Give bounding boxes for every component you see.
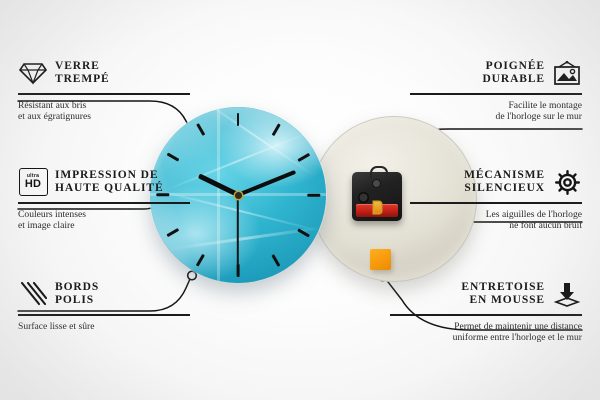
arrow-down-layers-icon bbox=[552, 279, 582, 309]
feature-bords-polis[interactable]: BORDSPOLIS Surface lisse et sûre bbox=[18, 277, 190, 332]
hour-marker bbox=[237, 264, 240, 277]
feature-divider bbox=[410, 93, 582, 95]
feature-description: Couleurs intenseset image claire bbox=[18, 209, 190, 232]
feature-divider bbox=[390, 314, 582, 316]
battery bbox=[356, 204, 398, 217]
hour-marker bbox=[237, 113, 240, 126]
feature-header: MÉCANISMESILENCIEUX bbox=[410, 165, 582, 199]
feature-title: ENTRETOISEEN MOUSSE bbox=[461, 281, 545, 308]
feature-description: Facilite le montagede l'horloge sur le m… bbox=[410, 100, 582, 123]
second-hand bbox=[237, 195, 239, 265]
picture-frame-hanger-icon bbox=[552, 58, 582, 88]
feature-impression-haute-qualite[interactable]: ultra HD IMPRESSION DEHAUTE QUALITÉ Coul… bbox=[18, 165, 190, 232]
diagonal-lines-icon bbox=[18, 279, 48, 309]
gear-icon bbox=[552, 167, 582, 197]
feature-title: POIGNÉEDURABLE bbox=[482, 60, 545, 87]
feature-description: Les aiguilles de l'horlogene font aucun … bbox=[410, 209, 582, 232]
battery-cap bbox=[374, 202, 381, 213]
infographic-canvas: VERRETREMPÉ Résistant aux briset aux égr… bbox=[0, 0, 600, 400]
feature-title: IMPRESSION DEHAUTE QUALITÉ bbox=[55, 169, 164, 196]
hour-marker bbox=[307, 194, 320, 197]
feature-header: VERRETREMPÉ bbox=[18, 56, 190, 90]
foam-spacer bbox=[370, 249, 391, 270]
feature-divider bbox=[18, 202, 190, 204]
hanger-hook-icon bbox=[370, 166, 388, 178]
feature-verre-trempe[interactable]: VERRETREMPÉ Résistant aux briset aux égr… bbox=[18, 56, 190, 123]
feature-divider bbox=[18, 314, 190, 316]
feature-header: ultra HD IMPRESSION DEHAUTE QUALITÉ bbox=[18, 165, 190, 199]
ultra-hd-icon: ultra HD bbox=[18, 167, 48, 197]
feature-description: Surface lisse et sûre bbox=[18, 321, 190, 333]
mechanism-shaft bbox=[372, 179, 381, 188]
feature-divider bbox=[410, 202, 582, 204]
feature-title: BORDSPOLIS bbox=[55, 281, 99, 308]
feature-entretoise-en-mousse[interactable]: ENTRETOISEEN MOUSSE Permet de maintenir … bbox=[390, 277, 582, 344]
feature-mecanisme-silencieux[interactable]: MÉCANISMESILENCIEUX Les aiguilles de l'h… bbox=[410, 165, 582, 232]
feature-header: ENTRETOISEEN MOUSSE bbox=[390, 277, 582, 311]
diamond-icon bbox=[18, 58, 48, 88]
feature-description: Résistant aux briset aux égratignures bbox=[18, 100, 190, 123]
feature-poignee-durable[interactable]: POIGNÉEDURABLE Facilite le montagede l'h… bbox=[410, 56, 582, 123]
feature-header: BORDSPOLIS bbox=[18, 277, 190, 311]
hands-center-cap bbox=[235, 192, 242, 199]
clock-mechanism bbox=[352, 172, 402, 221]
feature-description: Permet de maintenir une distanceuniforme… bbox=[390, 321, 582, 344]
feature-title: MÉCANISMESILENCIEUX bbox=[464, 169, 545, 196]
feature-divider bbox=[18, 93, 190, 95]
feature-header: POIGNÉEDURABLE bbox=[410, 56, 582, 90]
mechanism-dial bbox=[358, 192, 369, 203]
feature-title: VERRETREMPÉ bbox=[55, 60, 110, 87]
